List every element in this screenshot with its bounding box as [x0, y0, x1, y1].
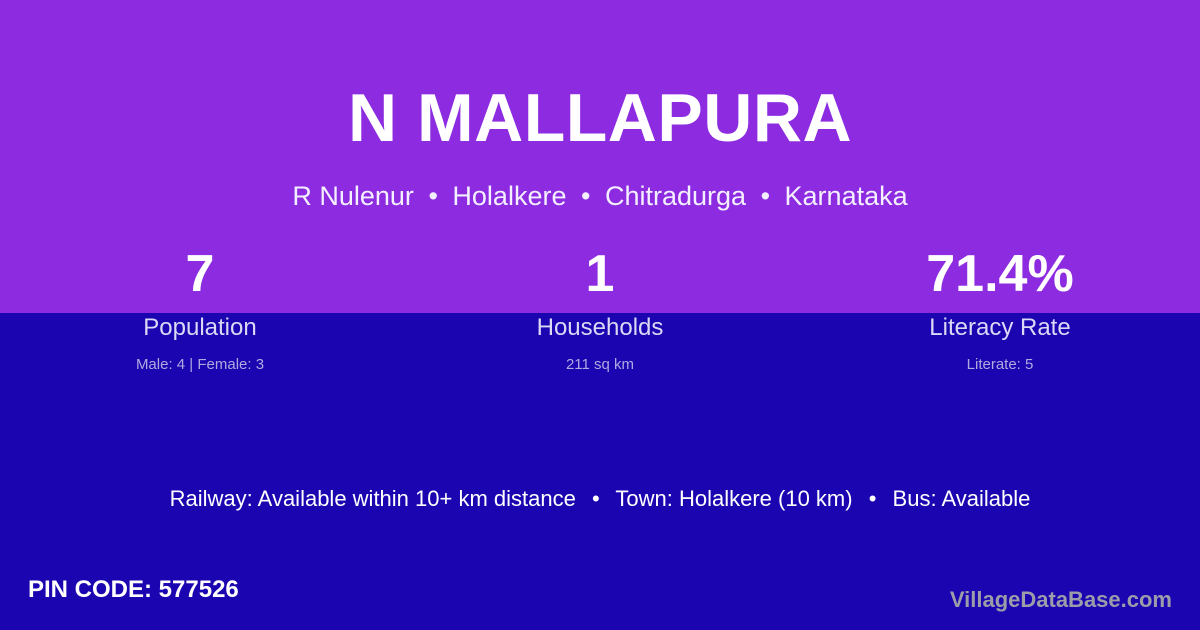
breadcrumb-part-subdistrict: R Nulenur	[292, 181, 414, 211]
pin-code: PIN CODE: 577526	[28, 577, 239, 603]
site-brand: VillageDataBase.com	[950, 588, 1172, 612]
stat-households-area: 211 sq km	[400, 357, 800, 372]
stat-literacy-rate: 71.4% Literacy Rate Literate: 5	[800, 248, 1200, 372]
amenity-railway: Railway: Available within 10+ km distanc…	[170, 486, 576, 511]
stat-population: 7 Population Male: 4 | Female: 3	[0, 248, 400, 372]
amenity-town: Town: Holalkere (10 km)	[615, 486, 852, 511]
village-info-card: N MALLAPURA R Nulenur • Holalkere • Chit…	[0, 0, 1200, 630]
stat-population-breakdown: Male: 4 | Female: 3	[0, 357, 400, 372]
breadcrumb: R Nulenur • Holalkere • Chitradurga • Ka…	[0, 182, 1200, 212]
stat-literacy-rate-count: Literate: 5	[800, 357, 1200, 372]
amenity-separator-icon: •	[582, 486, 610, 511]
stat-households: 1 Households 211 sq km	[400, 248, 800, 372]
breadcrumb-part-district: Chitradurga	[605, 181, 746, 211]
stats-row: 7 Population Male: 4 | Female: 3 1 House…	[0, 248, 1200, 372]
stat-households-label: Households	[400, 316, 800, 340]
stat-households-value: 1	[400, 248, 800, 313]
amenities-line: Railway: Available within 10+ km distanc…	[0, 487, 1200, 511]
breadcrumb-separator-icon: •	[421, 181, 444, 211]
breadcrumb-part-state: Karnataka	[785, 181, 908, 211]
stat-population-label: Population	[0, 316, 400, 340]
stat-population-value: 7	[0, 248, 400, 313]
page-title: N MALLAPURA	[0, 84, 1200, 152]
breadcrumb-separator-icon: •	[574, 181, 597, 211]
stat-literacy-rate-label: Literacy Rate	[800, 316, 1200, 340]
amenity-bus: Bus: Available	[893, 486, 1031, 511]
breadcrumb-separator-icon: •	[754, 181, 777, 211]
breadcrumb-part-block: Holalkere	[452, 181, 566, 211]
amenity-separator-icon: •	[859, 486, 887, 511]
stat-literacy-rate-value: 71.4%	[800, 248, 1200, 313]
